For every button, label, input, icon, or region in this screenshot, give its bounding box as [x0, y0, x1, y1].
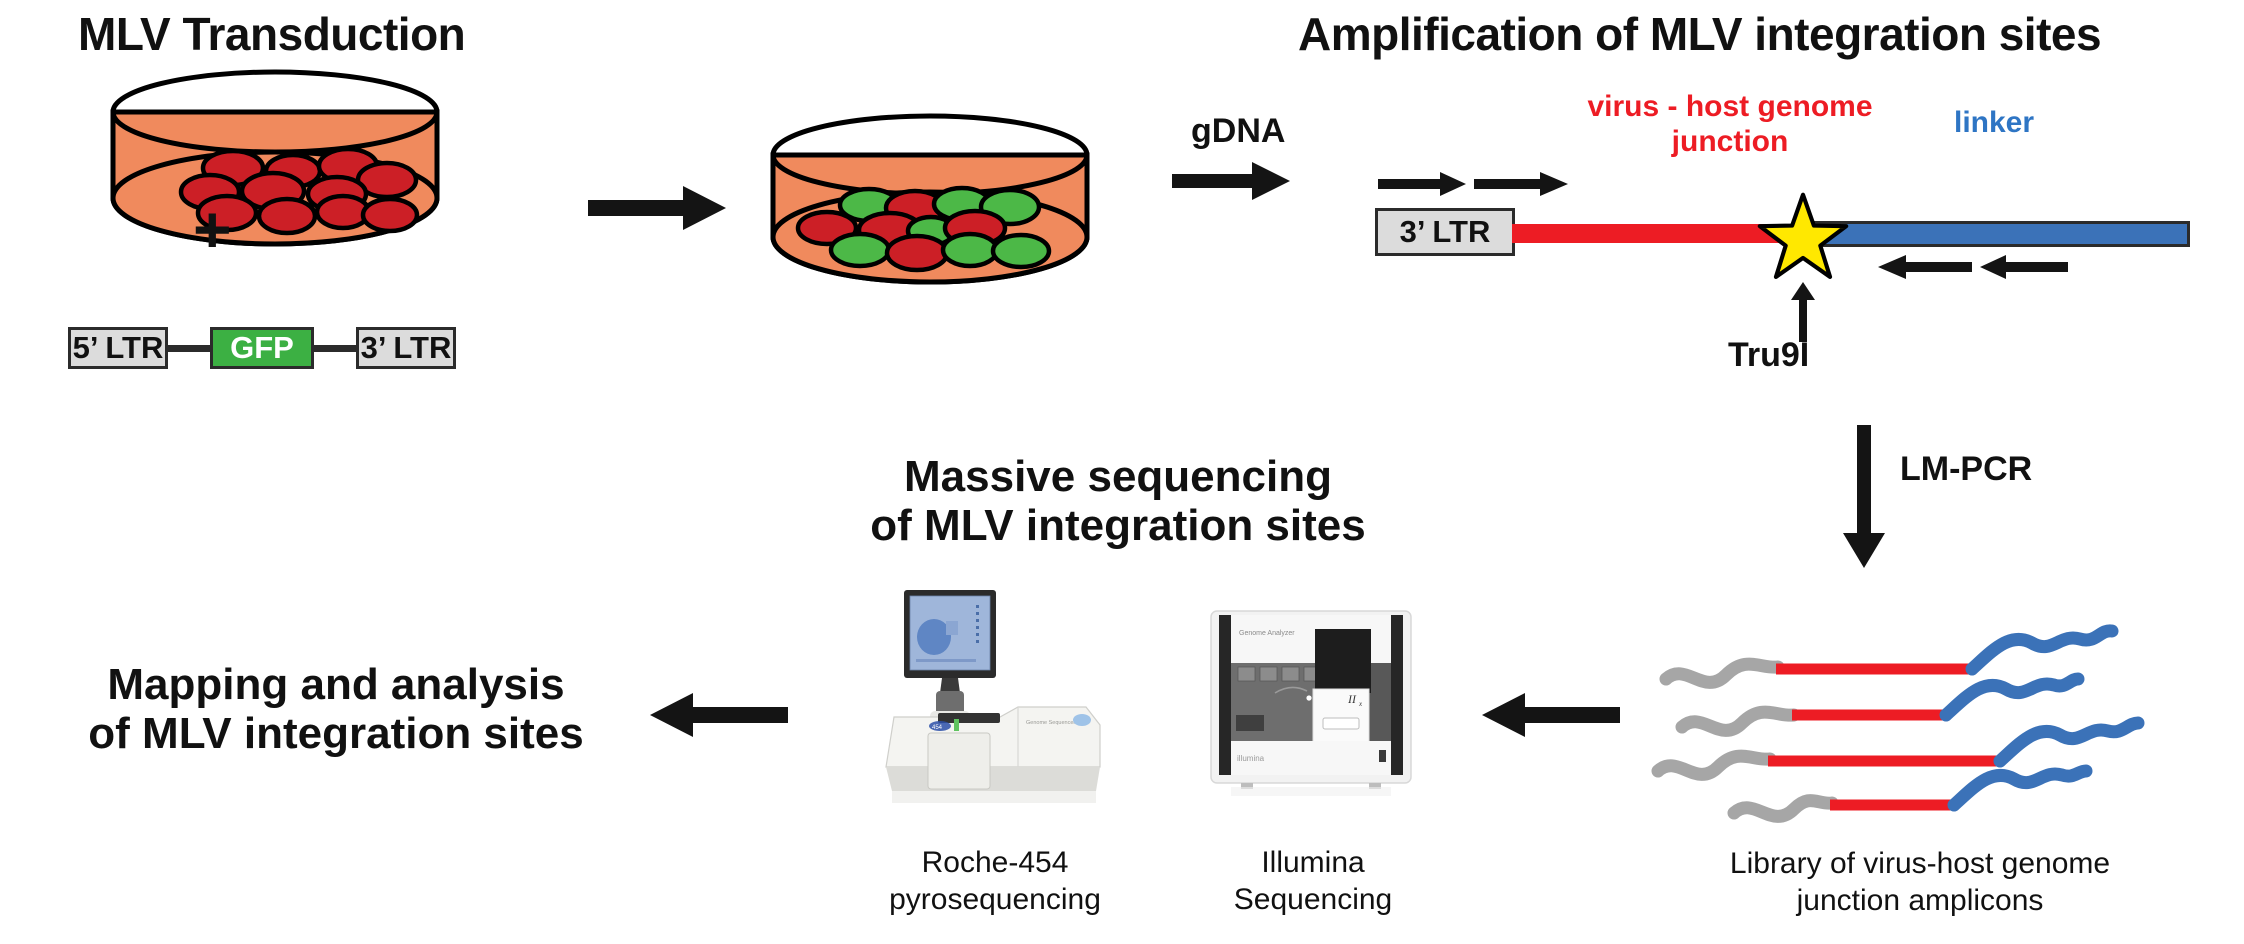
- lm-pcr-label: LM-PCR: [1900, 450, 2032, 489]
- arrow-lm-pcr: [1843, 425, 1889, 570]
- reverse-primer-arrows: [1868, 255, 2068, 281]
- vector-element-label: GFP: [230, 330, 294, 366]
- vector-element-5-ltr: 5’ LTR: [68, 327, 168, 369]
- amplicon-3-ltr-label: 3’ LTR: [1400, 214, 1491, 250]
- linker-bar: [1808, 221, 2190, 247]
- gdna-label: gDNA: [1191, 112, 1285, 151]
- heading-massive-sequencing: Massive sequencing of MLV integration si…: [828, 452, 1408, 551]
- arrow-sequencing-to-mapping: [648, 690, 788, 740]
- amplicon-library-caption: Library of virus-host genome junction am…: [1630, 846, 2210, 919]
- illumina-caption-line2: Sequencing: [1188, 882, 1438, 919]
- vector-construct: 5’ LTR GFP 3’ LTR: [68, 327, 456, 369]
- svg-text:Genome Analyzer: Genome Analyzer: [1239, 630, 1295, 637]
- roche-454-caption-line2: pyrosequencing: [845, 882, 1145, 919]
- heading-massive-sequencing-line2: of MLV integration sites: [828, 501, 1408, 550]
- svg-text:454: 454: [932, 725, 943, 731]
- heading-mapping-analysis-line2: of MLV integration sites: [36, 709, 636, 758]
- linker-label: linker: [1954, 106, 2034, 140]
- tru9i-cut-star-icon: [1757, 192, 1849, 282]
- amplicon-library-caption-line2: junction amplicons: [1630, 883, 2210, 920]
- figure-canvas: MLV Transduction Amplification of MLV in…: [0, 0, 2244, 944]
- arrow-transduction: [588, 183, 728, 233]
- illumina-caption: Illumina Sequencing: [1188, 845, 1438, 918]
- vector-element-gfp: GFP: [210, 327, 314, 369]
- svg-text:illumina: illumina: [1237, 754, 1265, 763]
- tru9i-label: Tru9I: [1728, 336, 1809, 375]
- heading-mlv-transduction: MLV Transduction: [78, 10, 465, 58]
- roche-454-caption-line1: Roche-454: [845, 845, 1145, 882]
- amplicon-library-graphic: [1660, 635, 2180, 825]
- vector-element-label: 5’ LTR: [73, 330, 164, 366]
- heading-massive-sequencing-line1: Massive sequencing: [828, 452, 1408, 501]
- vector-connector-right: [314, 345, 356, 352]
- junction-label-line2: junction: [1490, 125, 1970, 160]
- amplicon-3-ltr-box: 3’ LTR: [1375, 208, 1515, 256]
- culture-dish-transduced: [765, 113, 1095, 298]
- junction-label-line1: virus - host genome: [1490, 90, 1970, 125]
- illumina-sequencer-image: Genome Analyzer II x illumina: [1205, 605, 1417, 797]
- svg-text:Genome Sequencer: Genome Sequencer: [1026, 720, 1075, 726]
- culture-dish-untransduced: [105, 70, 445, 260]
- svg-text:II: II: [1347, 692, 1357, 706]
- junction-label: virus - host genome junction: [1490, 90, 1970, 159]
- heading-mapping-analysis: Mapping and analysis of MLV integration …: [36, 660, 636, 759]
- illumina-caption-line1: Illumina: [1188, 845, 1438, 882]
- plus-symbol: +: [193, 196, 232, 262]
- forward-primer-arrows: [1378, 172, 1578, 198]
- roche-454-sequencer-image: 454 Genome Sequencer: [868, 585, 1118, 820]
- arrow-tru9i: [1788, 282, 1818, 342]
- heading-amplification: Amplification of MLV integration sites: [1298, 10, 2101, 58]
- roche-454-caption: Roche-454 pyrosequencing: [845, 845, 1145, 918]
- vector-element-label: 3’ LTR: [361, 330, 452, 366]
- vector-connector-left: [168, 345, 210, 352]
- arrow-library-to-illumina: [1480, 690, 1620, 740]
- heading-mapping-analysis-line1: Mapping and analysis: [36, 660, 636, 709]
- vector-element-3-ltr: 3’ LTR: [356, 327, 456, 369]
- arrow-gdna: [1172, 160, 1292, 202]
- amplicon-library-caption-line1: Library of virus-host genome: [1630, 846, 2210, 883]
